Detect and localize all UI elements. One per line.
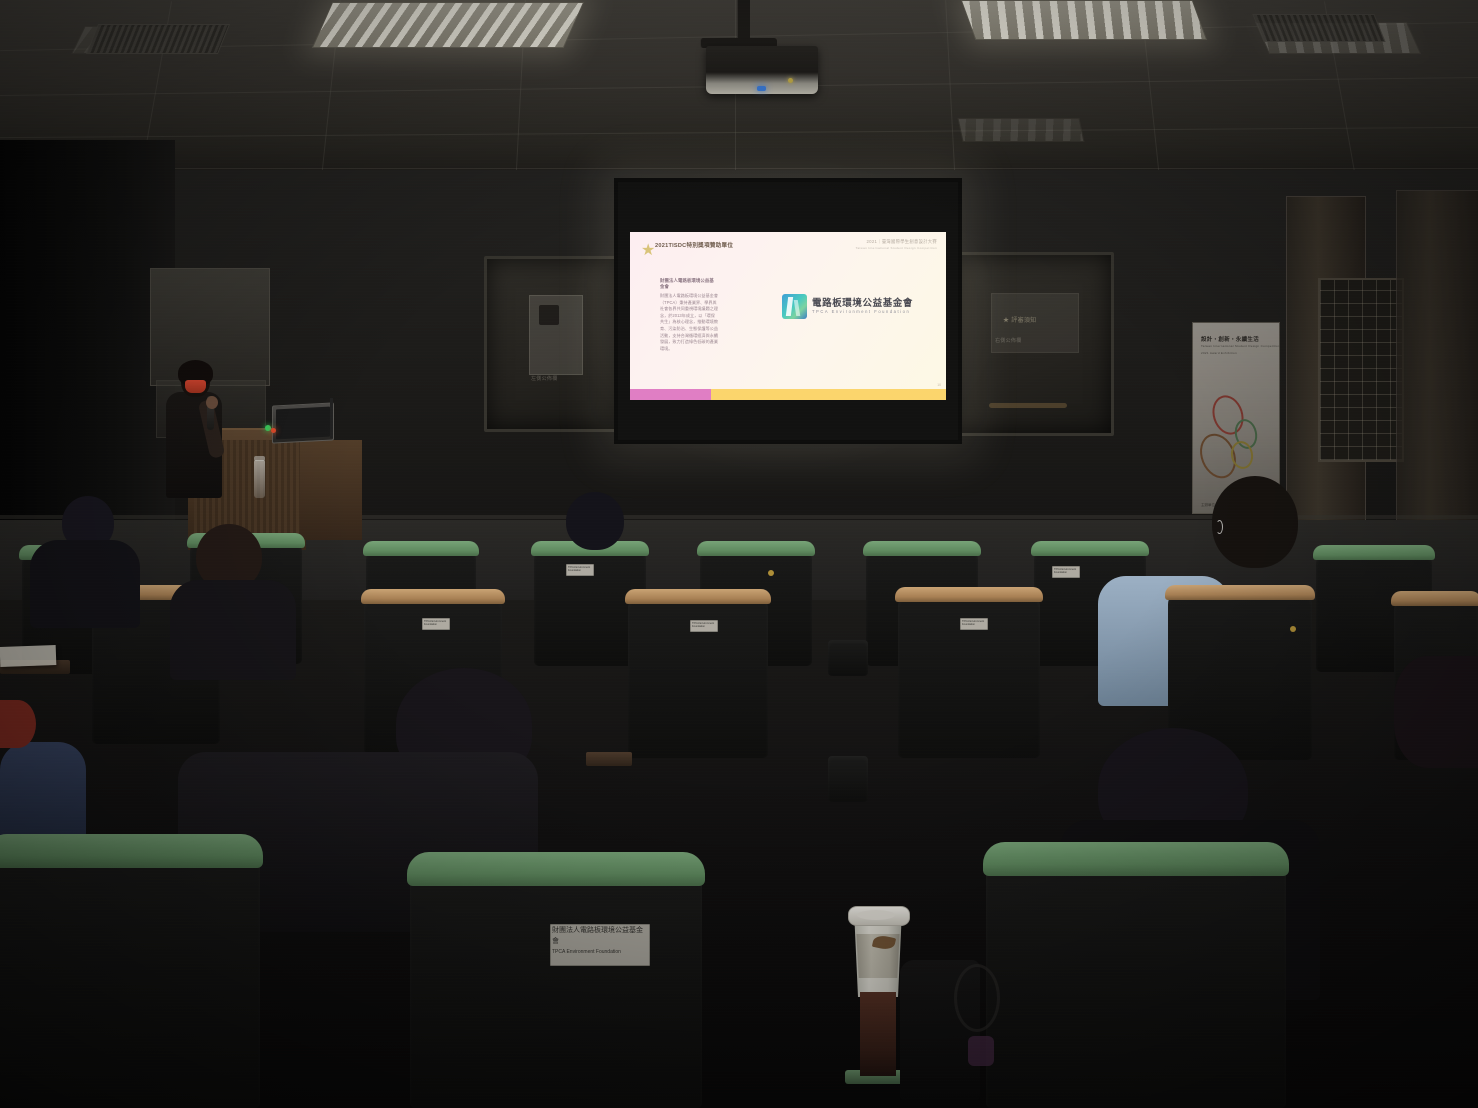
backpack-strap <box>954 964 1000 1032</box>
seat-crest <box>863 541 981 556</box>
seat-mid-3[interactable]: TPCA Environment Foundation <box>628 596 768 758</box>
audience-torso <box>170 580 296 680</box>
right-notice-board: ★ 評審須知 右側公佈欄 <box>952 252 1114 436</box>
banner-headline: 設計‧創新‧永續生活 <box>1201 335 1259 343</box>
podium-laptop[interactable] <box>272 402 334 443</box>
banner-subline-en: Taiwan International Student Design Comp… <box>1201 344 1280 348</box>
seat-crest <box>1165 585 1315 600</box>
paper-coffee-cup[interactable] <box>851 906 905 996</box>
star-icon: ★ <box>641 240 652 251</box>
microphone-stand <box>330 398 333 438</box>
right-board-label: 右側公佈欄 <box>995 337 1075 344</box>
banner-subline-year: 2021 Award Exhibition <box>1201 351 1237 355</box>
projector-power-led <box>757 86 766 91</box>
bottle-cap <box>254 456 265 461</box>
slide-title: 2021TISDC特別獎項贊助單位 <box>655 241 733 249</box>
wall-grille <box>1318 278 1404 462</box>
seat-crest <box>407 852 705 886</box>
right-board-note: ★ 評審須知 <box>1003 315 1083 324</box>
fluorescent-grid-light <box>961 0 1208 40</box>
audience-head <box>1394 656 1478 768</box>
seat-front-1[interactable] <box>0 848 260 1108</box>
audience-torso <box>30 540 140 628</box>
seat-crest <box>895 587 1043 602</box>
papers-on-tablet-arm <box>0 645 56 667</box>
seat-sticker: TPCA Environment Foundation <box>960 618 988 630</box>
sponsor-logo: 電路板環境公益基金會 TPCA Environment Foundation <box>782 294 913 319</box>
seat-front-3[interactable] <box>986 856 1286 1108</box>
seat-sticker-text: TPCA Environment Foundation <box>691 621 717 629</box>
slide-body-heading: 財團法人電路板環境公益基金會 <box>660 278 718 290</box>
fluorescent-grid-light <box>957 118 1084 142</box>
seat-mid-4[interactable]: TPCA Environment Foundation <box>898 594 1040 758</box>
board-marker-tray <box>989 403 1067 408</box>
armrest-block-center-lower <box>828 756 868 802</box>
audience-head <box>1212 476 1298 568</box>
slide-header: ★ 2021TISDC特別獎項贊助單位 2021｜臺灣國際學生創意設計大賽 Ta… <box>630 232 946 258</box>
seat-sticker-text: TPCA Environment Foundation <box>961 619 987 627</box>
ceiling <box>0 0 1478 185</box>
seat-sticker: TPCA Environment Foundation <box>1052 566 1080 578</box>
banner-footer: 主辦單位 <box>1201 503 1215 508</box>
equipment-red-led <box>271 428 276 433</box>
ceiling-air-vent <box>86 24 230 54</box>
water-bottle <box>254 460 265 498</box>
presentation-slide: ★ 2021TISDC特別獎項贊助單位 2021｜臺灣國際學生創意設計大賽 Ta… <box>630 232 946 400</box>
projector-lens <box>788 78 793 83</box>
audience-head <box>0 700 36 748</box>
slide-body-text: 財團法人電路板環境公益基金會 財團法人電路板環境公益基金會（TPCA）秉持產業界… <box>660 278 718 353</box>
cup-lid <box>848 906 910 926</box>
ceiling-air-vent <box>1252 14 1385 42</box>
seat-crest <box>625 589 771 604</box>
sponsor-logo-cn: 電路板環境公益基金會 <box>812 299 913 309</box>
face-mask-loop <box>1216 520 1223 534</box>
seat-crest <box>1313 545 1435 560</box>
seat-crest <box>363 541 479 556</box>
lectern-side-table <box>300 440 362 540</box>
lecture-hall-photo: 左側公佈欄 ★ 評審須知 右側公佈欄 ★ 2021TISDC特別獎項贊助單位 2… <box>0 0 1478 1108</box>
sponsor-logo-en: TPCA Environment Foundation <box>812 310 913 314</box>
competition-brand-cn: 2021｜臺灣國際學生創意設計大賽 <box>866 239 937 245</box>
cup-lid-inner <box>857 910 895 920</box>
seat-bolt-cap <box>768 570 774 576</box>
seat-sticker-subtext: TPCA Environment Foundation <box>551 948 649 957</box>
seat-sticker: 財團法人電路板環境公益基金會 TPCA Environment Foundati… <box>550 924 650 966</box>
seat-crest <box>697 541 815 556</box>
seat-sticker: TPCA Environment Foundation <box>422 618 450 630</box>
presenter-hand <box>206 396 218 409</box>
armrest-body <box>828 756 868 802</box>
cup-holder-post <box>860 992 896 1076</box>
slide-page-number: 10 <box>937 383 941 387</box>
seat-sticker-text: TPCA Environment Foundation <box>567 565 593 573</box>
laptop-screen <box>276 407 330 440</box>
seat-sticker-text: TPCA Environment Foundation <box>1053 567 1079 575</box>
seat-crest <box>361 589 505 604</box>
seat-back <box>410 866 702 1108</box>
poster-image-block <box>539 305 559 325</box>
tablet-arm-mid <box>586 752 632 766</box>
left-board-label: 左側公佈欄 <box>531 375 583 382</box>
seat-back <box>986 856 1286 1108</box>
audience-head <box>566 492 624 550</box>
seat-back <box>0 848 260 1108</box>
armrest-block-center <box>828 640 868 676</box>
seat-crest <box>0 834 263 868</box>
seat-sticker: TPCA Environment Foundation <box>566 564 594 576</box>
tpca-logo-icon <box>782 294 807 319</box>
competition-brand-en: Taiwan International Student Design Comp… <box>856 246 937 250</box>
backpack-on-floor <box>900 960 980 1100</box>
fluorescent-grid-light <box>312 2 584 48</box>
right-wall-column <box>1396 190 1478 562</box>
slide-body-paragraph: 財團法人電路板環境公益基金會（TPCA）秉持產業界、學界與社會各界共同重視環境議… <box>660 293 718 353</box>
seat-crest <box>1391 591 1478 606</box>
backpack-accent <box>968 1036 994 1066</box>
seat-sticker: TPCA Environment Foundation <box>690 620 718 632</box>
seat-crest <box>983 842 1289 876</box>
seat-sticker-text: 財團法人電路板環境公益基金會 <box>551 925 649 948</box>
seat-crest <box>1031 541 1149 556</box>
projection-screen: ★ 2021TISDC特別獎項贊助單位 2021｜臺灣國際學生創意設計大賽 Ta… <box>614 178 962 444</box>
slide-accent-bar-yellow <box>711 389 946 400</box>
seat-bolt-cap <box>1290 626 1296 632</box>
seat-front-2[interactable]: 財團法人電路板環境公益基金會 TPCA Environment Foundati… <box>410 866 702 1108</box>
seat-sticker-text: TPCA Environment Foundation <box>423 619 449 627</box>
left-notice-board: 左側公佈欄 <box>484 256 618 432</box>
armrest-body <box>828 640 868 676</box>
presenter-face-mask <box>185 380 206 393</box>
slide-accent-bar-pink <box>630 389 711 400</box>
